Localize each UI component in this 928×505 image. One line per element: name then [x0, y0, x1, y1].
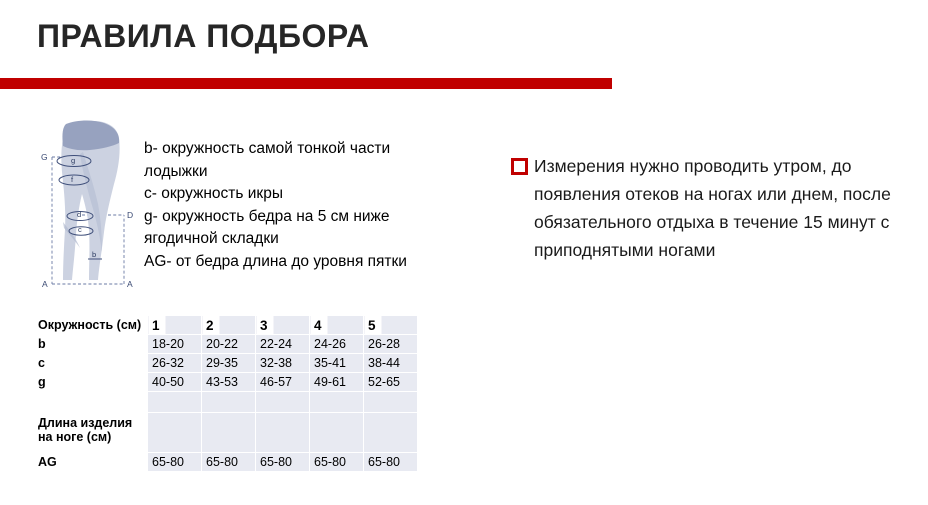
list-item: Измерения нужно проводить утром, до появ…: [508, 152, 906, 264]
table-header-row: Окружность (см) 1 2 3 4 5: [34, 316, 418, 335]
row-cell: 22-24: [256, 335, 310, 354]
row-cell: 46-57: [256, 373, 310, 392]
table-spacer-row: [34, 392, 418, 413]
table-header-col-3: 3: [256, 316, 310, 335]
table-section-row: Длина изделия на ноге (см): [34, 413, 418, 453]
row-cell: 65-80: [148, 453, 202, 472]
row-label: g: [34, 373, 148, 392]
table-header-col-4: 4: [310, 316, 364, 335]
frame-label-A-right: A: [127, 279, 133, 289]
row-cell: [256, 413, 310, 453]
row-label-length-section: Длина изделия на ноге (см): [34, 413, 148, 453]
advice-bullet-list: Измерения нужно проводить утром, до появ…: [508, 152, 906, 264]
row-label: AG: [34, 453, 148, 472]
table-row: AG 65-80 65-80 65-80 65-80 65-80: [34, 453, 418, 472]
mark-label-b: b: [92, 250, 96, 259]
leg-measurement-diagram: g f d c b G D A A: [36, 112, 140, 294]
row-cell: 65-80: [310, 453, 364, 472]
frame-label-A-left: A: [42, 279, 48, 289]
mark-label-d: d: [77, 210, 81, 219]
length-label-line2: на ноге (см): [38, 430, 143, 444]
mark-label-c: c: [78, 225, 82, 234]
legend-line-c: c- окружность икры: [144, 183, 436, 206]
legend-line-g: g- окружность бедра на 5 см ниже ягодичн…: [144, 206, 436, 251]
table-header-label: Окружность (см): [34, 316, 148, 335]
row-cell: 18-20: [148, 335, 202, 354]
row-cell: 49-61: [310, 373, 364, 392]
row-label: b: [34, 335, 148, 354]
row-cell: 32-38: [256, 354, 310, 373]
legend-line-ag: AG- от бедра длина до уровня пятки: [144, 251, 436, 274]
row-cell: 65-80: [202, 453, 256, 472]
row-cell: 52-65: [364, 373, 418, 392]
table-header-col-1: 1: [148, 316, 202, 335]
legend-line-b: b- окружность самой тонкой части лодыжки: [144, 138, 436, 183]
mark-label-g: g: [71, 156, 75, 165]
row-cell: [364, 413, 418, 453]
length-label-line1: Длина изделия: [38, 416, 143, 430]
size-chart-table: Окружность (см) 1 2 3 4 5 b 18-20 20-22 …: [33, 315, 418, 472]
square-bullet-icon: [511, 158, 528, 175]
row-cell: 29-35: [202, 354, 256, 373]
table-row: c 26-32 29-35 32-38 35-41 38-44: [34, 354, 418, 373]
table-row: g 40-50 43-53 46-57 49-61 52-65: [34, 373, 418, 392]
bullet-text: Измерения нужно проводить утром, до появ…: [534, 156, 891, 260]
leg-silhouette: [61, 120, 119, 280]
row-label: c: [34, 354, 148, 373]
row-cell: 20-22: [202, 335, 256, 354]
row-cell: 35-41: [310, 354, 364, 373]
frame-label-D: D: [127, 210, 133, 220]
table-header-col-5: 5: [364, 316, 418, 335]
row-cell: 65-80: [364, 453, 418, 472]
row-cell: 38-44: [364, 354, 418, 373]
page-title: ПРАВИЛА ПОДБОРА: [37, 16, 370, 56]
row-cell: [148, 413, 202, 453]
row-cell: 65-80: [256, 453, 310, 472]
row-cell: 24-26: [310, 335, 364, 354]
row-cell: [364, 392, 418, 413]
slide-root: ПРАВИЛА ПОДБОРА: [0, 0, 928, 505]
frame-label-G: G: [41, 152, 48, 162]
table-header-col-2: 2: [202, 316, 256, 335]
row-cell: [202, 413, 256, 453]
row-cell: [310, 413, 364, 453]
row-cell: 26-32: [148, 354, 202, 373]
row-cell: [148, 392, 202, 413]
row-cell: 43-53: [202, 373, 256, 392]
row-cell: [202, 392, 256, 413]
table-row: b 18-20 20-22 22-24 24-26 26-28: [34, 335, 418, 354]
row-cell: 26-28: [364, 335, 418, 354]
row-label: [34, 392, 148, 413]
accent-bar: [0, 78, 612, 89]
row-cell: 40-50: [148, 373, 202, 392]
measurement-legend: b- окружность самой тонкой части лодыжки…: [144, 138, 436, 273]
row-cell: [310, 392, 364, 413]
row-cell: [256, 392, 310, 413]
